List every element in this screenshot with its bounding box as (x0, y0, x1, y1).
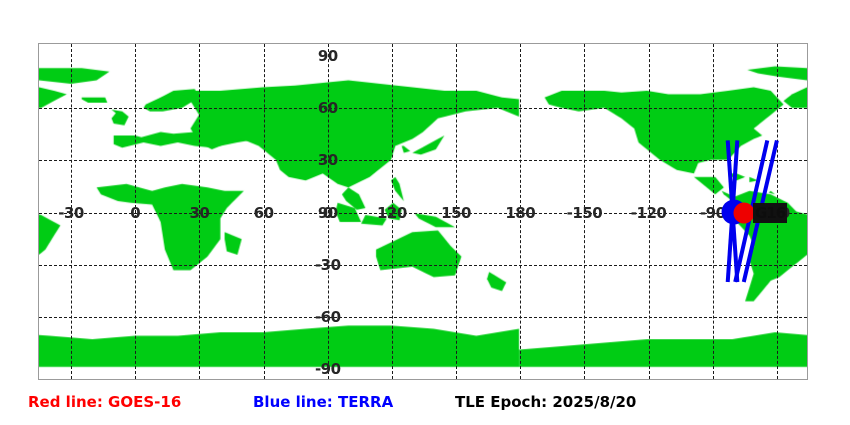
world-map-canvas (39, 44, 807, 379)
legend-red-line-goes: Red line: GOES-16 (28, 393, 181, 411)
world-map-panel: -300306090120150180-150-120-90-609060300… (38, 43, 808, 380)
legend-tle-epoch: TLE Epoch: 2025/8/20 (455, 393, 636, 411)
satellite-marker-goes (733, 203, 754, 224)
satellite-label-goes: G16 (753, 203, 787, 223)
legend-blue-line-terra: Blue line: TERRA (253, 393, 393, 411)
legend-bar: Red line: GOES-16 Blue line: TERRA TLE E… (0, 393, 850, 425)
